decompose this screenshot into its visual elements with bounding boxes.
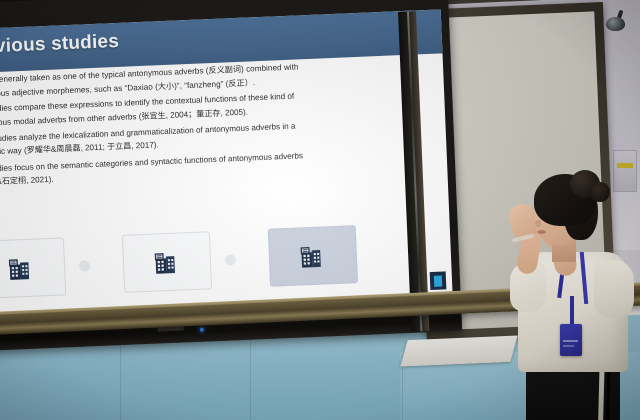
- slide-thumbnail-card[interactable]: [0, 237, 66, 299]
- slide-thumbnail-card-selected[interactable]: [268, 225, 358, 287]
- wall-camera-icon: [604, 10, 630, 32]
- slide-body: “Zaowan” is generally taken as one of th…: [0, 55, 448, 193]
- list-item-line: (孙嘉铭&石定栩, 2021).: [0, 175, 54, 188]
- presenter-nose: [535, 220, 541, 227]
- app-tile-icon[interactable]: [430, 271, 447, 290]
- wall-panel-seam: [250, 336, 251, 420]
- presenter: [498, 168, 640, 420]
- conference-badge: [560, 324, 582, 356]
- thumbnail-separator-dot: [225, 254, 236, 265]
- presenter-lips: [537, 230, 546, 234]
- badge-line: [563, 345, 574, 347]
- office-building-icon: [297, 240, 328, 271]
- thumbnail-separator-dot: [79, 260, 90, 271]
- badge-line: [563, 340, 578, 342]
- lanyard-strap-lower: [570, 296, 574, 326]
- presentation-slide[interactable]: Previous studies “Zaowan” is generally t…: [0, 9, 453, 315]
- app-tile-glyph: [434, 275, 442, 286]
- slide-point-list: 1. Most studies compare these expression…: [0, 83, 447, 191]
- office-building-icon: [151, 246, 182, 277]
- presenter-hair-bun-secondary: [590, 182, 610, 202]
- slide-thumbnail-row: [0, 222, 444, 304]
- slide-thumbnail-card[interactable]: [122, 231, 212, 293]
- camera-body: [606, 17, 625, 31]
- blouse-sleeve-right: [594, 260, 634, 318]
- office-building-icon: [6, 253, 37, 284]
- classroom-scene: Previous studies “Zaowan” is generally t…: [0, 0, 640, 420]
